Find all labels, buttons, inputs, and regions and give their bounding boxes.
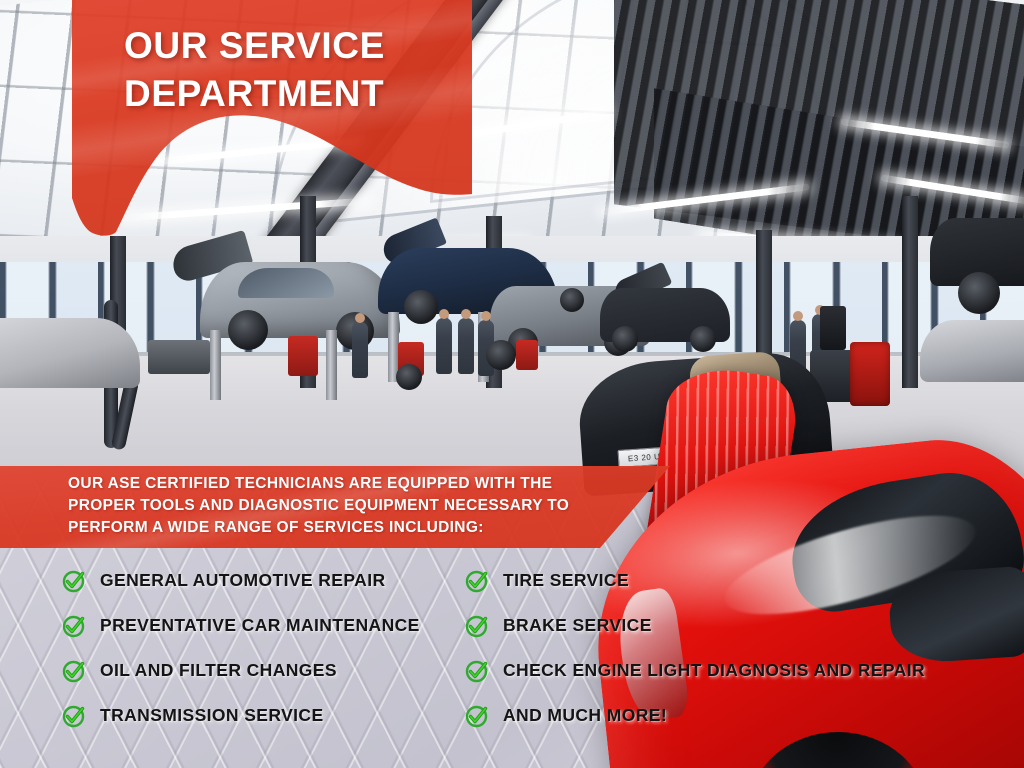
service-label: BRAKE SERVICE xyxy=(503,615,652,636)
green-check-circle-icon xyxy=(62,659,86,683)
parked-classic-car-left xyxy=(0,318,140,388)
silver-car-windshield xyxy=(238,268,334,298)
page-title-line-1: OUR SERVICE xyxy=(124,22,464,70)
service-label: AND MUCH MORE! xyxy=(503,705,667,726)
green-check-circle-icon xyxy=(465,569,489,593)
diagnostic-machine xyxy=(850,342,890,406)
service-list-item: PREVENTATIVE CAR MAINTENANCE xyxy=(62,603,462,648)
green-check-circle-icon xyxy=(465,704,489,728)
intro-paragraph: OUR ASE CERTIFIED TECHNICIANS ARE EQUIPP… xyxy=(68,473,608,539)
green-check-circle-icon xyxy=(465,659,489,683)
service-label: TRANSMISSION SERVICE xyxy=(100,705,324,726)
car-wheel xyxy=(404,290,438,324)
services-column-right: TIRE SERVICE BRAKE SERVICE xyxy=(465,558,985,738)
green-check-circle-icon xyxy=(62,704,86,728)
service-list-item: OIL AND FILTER CHANGES xyxy=(62,648,462,693)
loose-tire xyxy=(560,288,584,312)
page-title-line-2: DEPARTMENT xyxy=(124,70,464,118)
vehicle-lift-post xyxy=(210,330,221,400)
vehicle-lift-post xyxy=(326,330,337,400)
green-check-circle-icon xyxy=(465,614,489,638)
service-label: OIL AND FILTER CHANGES xyxy=(100,660,337,681)
intro-line-3: PERFORM A WIDE RANGE OF SERVICES INCLUDI… xyxy=(68,517,608,539)
service-list-item: BRAKE SERVICE xyxy=(465,603,985,648)
service-list-item: TIRE SERVICE xyxy=(465,558,985,603)
intro-line-1: OUR ASE CERTIFIED TECHNICIANS ARE EQUIPP… xyxy=(68,473,608,495)
red-tool-cart xyxy=(288,336,318,376)
page-title: OUR SERVICE DEPARTMENT xyxy=(124,22,464,118)
service-department-poster: E3 20 UA OUR SERVICE DEPARTMENT OUR ASE … xyxy=(0,0,1024,768)
service-label: PREVENTATIVE CAR MAINTENANCE xyxy=(100,615,420,636)
green-check-circle-icon xyxy=(62,569,86,593)
car-wheel xyxy=(958,272,1000,314)
technician xyxy=(458,318,474,374)
workbench xyxy=(148,340,210,374)
services-column-left: GENERAL AUTOMOTIVE REPAIR PREVENTATIVE C… xyxy=(62,558,462,738)
service-label: GENERAL AUTOMOTIVE REPAIR xyxy=(100,570,386,591)
service-list-item: CHECK ENGINE LIGHT DIAGNOSIS AND REPAIR xyxy=(465,648,985,693)
services-checklist: GENERAL AUTOMOTIVE REPAIR PREVENTATIVE C… xyxy=(62,558,982,738)
technician xyxy=(436,318,452,374)
service-label: CHECK ENGINE LIGHT DIAGNOSIS AND REPAIR xyxy=(503,660,925,681)
technician xyxy=(352,322,368,378)
car-wheel xyxy=(228,310,268,350)
service-label: TIRE SERVICE xyxy=(503,570,629,591)
service-list-item: GENERAL AUTOMOTIVE REPAIR xyxy=(62,558,462,603)
red-tool-cart xyxy=(516,340,538,370)
loose-tire xyxy=(486,340,516,370)
loose-tire xyxy=(396,364,422,390)
service-list-item: AND MUCH MORE! xyxy=(465,693,985,738)
service-list-item: TRANSMISSION SERVICE xyxy=(62,693,462,738)
green-check-circle-icon xyxy=(62,614,86,638)
intro-line-2: PROPER TOOLS AND DIAGNOSTIC EQUIPMENT NE… xyxy=(68,495,608,517)
